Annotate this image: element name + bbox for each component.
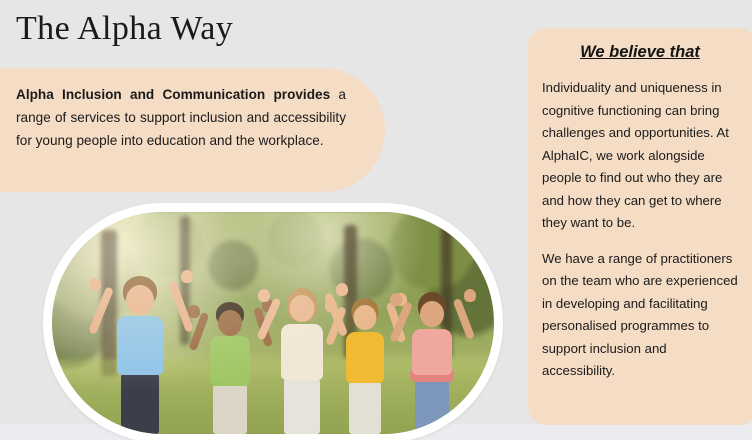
child-figure	[101, 270, 179, 434]
child-figure	[335, 292, 395, 434]
photo-frame	[43, 203, 503, 440]
intro-card: Alpha Inclusion and Communication provid…	[0, 68, 385, 192]
belief-panel-title: We believe that	[542, 40, 738, 64]
belief-panel: We believe that Individuality and unique…	[528, 28, 752, 425]
page-title: The Alpha Way	[16, 6, 233, 52]
children-photo	[52, 212, 494, 434]
belief-paragraph: We have a range of practitioners on the …	[542, 248, 738, 383]
belief-paragraph: Individuality and uniqueness in cognitiv…	[542, 77, 738, 235]
child-figure	[401, 287, 463, 434]
intro-text: Alpha Inclusion and Communication provid…	[16, 83, 346, 152]
child-figure	[198, 296, 262, 434]
intro-lead-text: Alpha Inclusion and Communication provid…	[16, 87, 330, 102]
